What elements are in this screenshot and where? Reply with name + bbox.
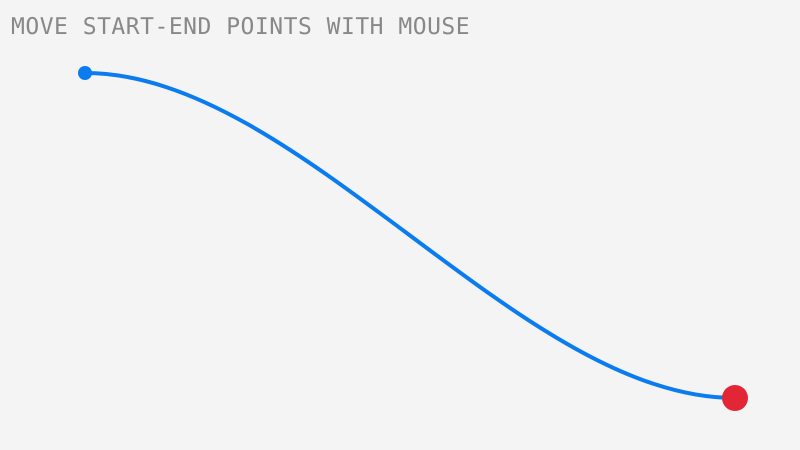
curve-canvas[interactable] — [0, 0, 800, 450]
start-point-handle[interactable] — [78, 66, 92, 80]
bezier-curve-path — [85, 73, 735, 398]
bezier-editor-app: MOVE START-END POINTS WITH MOUSE — [0, 0, 800, 450]
end-point-handle[interactable] — [722, 385, 748, 411]
